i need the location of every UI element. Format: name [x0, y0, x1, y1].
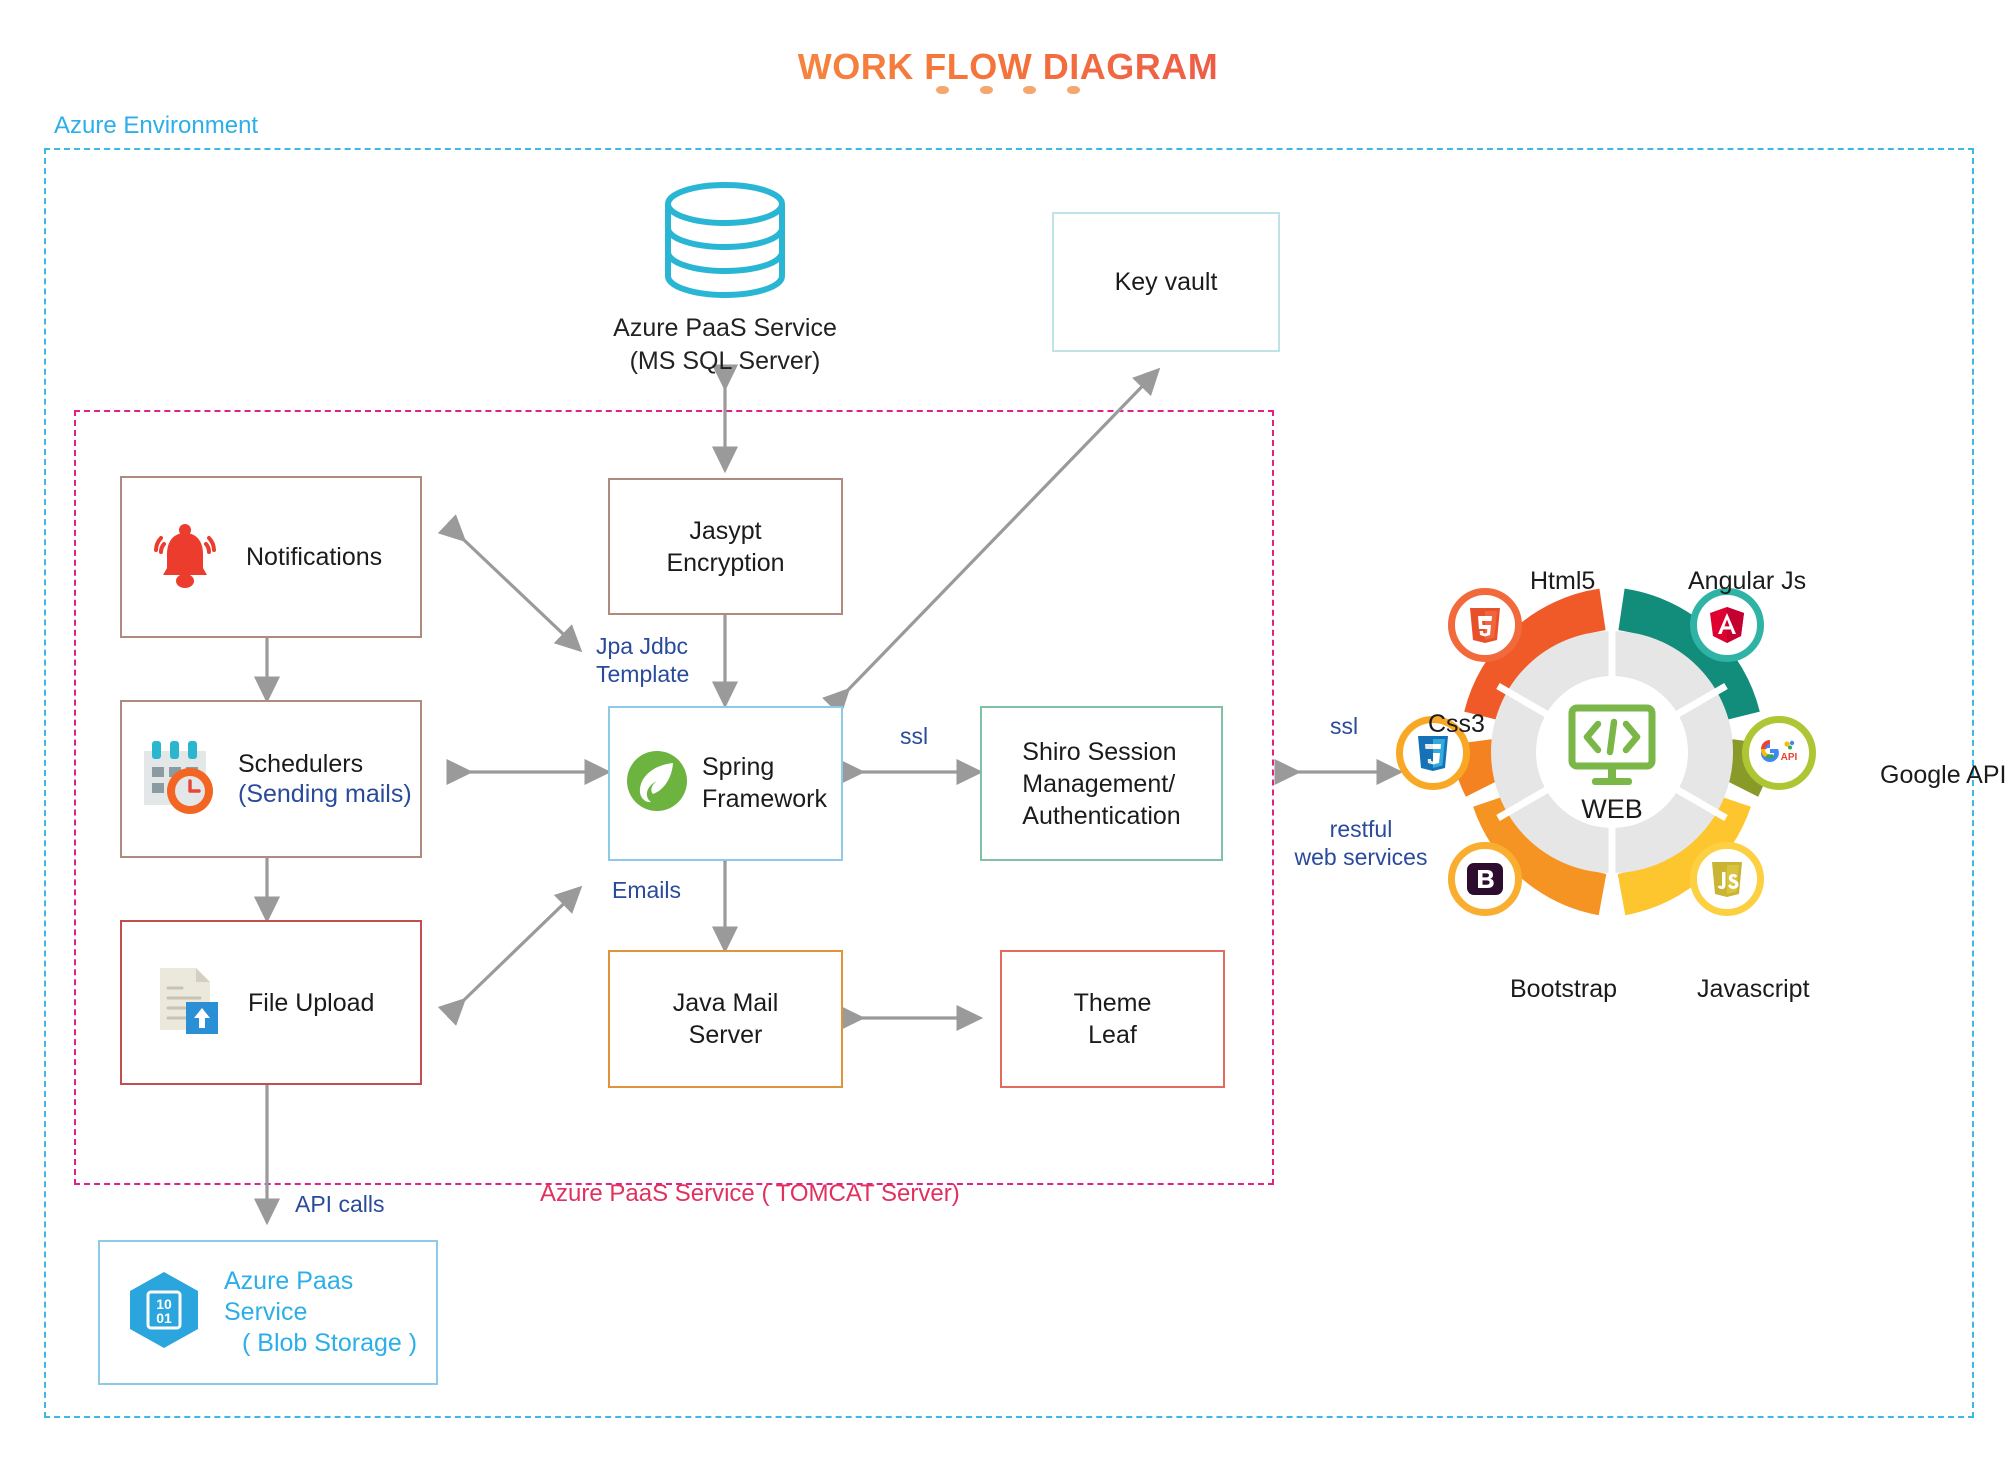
- page-title: WORK FLOW DIAGRAM: [0, 46, 2016, 88]
- java-mail-server-box[interactable]: Java Mail Server: [608, 950, 843, 1088]
- svg-text:01: 01: [156, 1310, 172, 1326]
- emails-label: Emails: [612, 876, 681, 904]
- file-upload-label: File Upload: [248, 987, 374, 1019]
- bell-icon: [146, 516, 224, 599]
- java-mail-server-label: Java Mail Server: [673, 987, 779, 1051]
- file-upload-box[interactable]: File Upload: [120, 920, 422, 1085]
- blob-storage-box[interactable]: 10 01 Azure Paas Service ( Blob Storage …: [98, 1240, 438, 1385]
- restful-web-services-label: restful web services: [1288, 815, 1434, 871]
- web-center-label: WEB: [1581, 794, 1643, 824]
- title-dot: [980, 86, 993, 94]
- azure-environment-label: Azure Environment: [54, 112, 258, 140]
- html5-icon: [1448, 588, 1522, 662]
- ssl-label-middle: ssl: [900, 722, 928, 750]
- web-label-css3: Css3: [1428, 710, 1485, 739]
- svg-text:API: API: [1781, 752, 1798, 763]
- javascript-icon: [1690, 842, 1764, 916]
- shiro-session-box[interactable]: Shiro Session Management/ Authentication: [980, 706, 1223, 861]
- web-label-javascript: Javascript: [1697, 975, 1810, 1004]
- schedulers-label: Schedulers (Sending mails): [238, 749, 412, 810]
- notifications-label: Notifications: [246, 541, 382, 573]
- web-label-google-api: Google API: [1880, 760, 1970, 791]
- web-label-bootstrap: Bootstrap: [1510, 975, 1617, 1004]
- database-cylinder-icon: [645, 180, 805, 300]
- spring-framework-label: Spring Framework: [702, 752, 827, 815]
- theme-leaf-box[interactable]: Theme Leaf: [1000, 950, 1225, 1088]
- shiro-label: Shiro Session Management/ Authentication: [1022, 736, 1180, 832]
- bootstrap-icon: [1448, 842, 1522, 916]
- spring-leaf-icon: [624, 748, 690, 819]
- schedulers-box[interactable]: Schedulers (Sending mails): [120, 700, 422, 858]
- ssl-label-right: ssl: [1330, 712, 1358, 740]
- title-dot: [1023, 86, 1036, 94]
- title-dot-decoration: [0, 86, 2016, 104]
- theme-leaf-label: Theme Leaf: [1074, 987, 1152, 1051]
- web-technology-donut: WEB API: [1428, 568, 1796, 936]
- api-calls-label: API calls: [295, 1190, 384, 1218]
- spring-framework-box[interactable]: Spring Framework: [608, 706, 843, 861]
- title-dot: [936, 86, 949, 94]
- title-dot: [1067, 86, 1080, 94]
- database-label: Azure PaaS Service (MS SQL Server): [560, 312, 890, 377]
- schedulers-sublabel: (Sending mails): [238, 780, 412, 808]
- tomcat-container-label: Azure PaaS Service ( TOMCAT Server): [540, 1180, 960, 1208]
- angularjs-icon: [1690, 588, 1764, 662]
- file-upload-icon: [146, 960, 226, 1045]
- web-label-angularjs: Angular Js: [1688, 567, 1806, 596]
- key-vault-box[interactable]: Key vault: [1052, 212, 1280, 352]
- web-label-html5: Html5: [1530, 567, 1595, 596]
- key-vault-label: Key vault: [1115, 266, 1218, 298]
- jpa-jdbc-template-label: Jpa Jdbc Template: [596, 632, 689, 688]
- page-title-text: WORK FLOW DIAGRAM: [798, 46, 1218, 88]
- calendar-clock-icon: [138, 737, 224, 822]
- schedulers-title: Schedulers: [238, 750, 363, 778]
- jasypt-box[interactable]: Jasypt Encryption: [608, 478, 843, 615]
- blob-storage-label: Azure Paas Service ( Blob Storage ): [224, 1266, 436, 1360]
- google-api-icon: API: [1742, 716, 1816, 790]
- notifications-box[interactable]: Notifications: [120, 476, 422, 638]
- jasypt-label: Jasypt Encryption: [666, 515, 784, 579]
- azure-blob-hexagon-icon: 10 01: [128, 1270, 200, 1355]
